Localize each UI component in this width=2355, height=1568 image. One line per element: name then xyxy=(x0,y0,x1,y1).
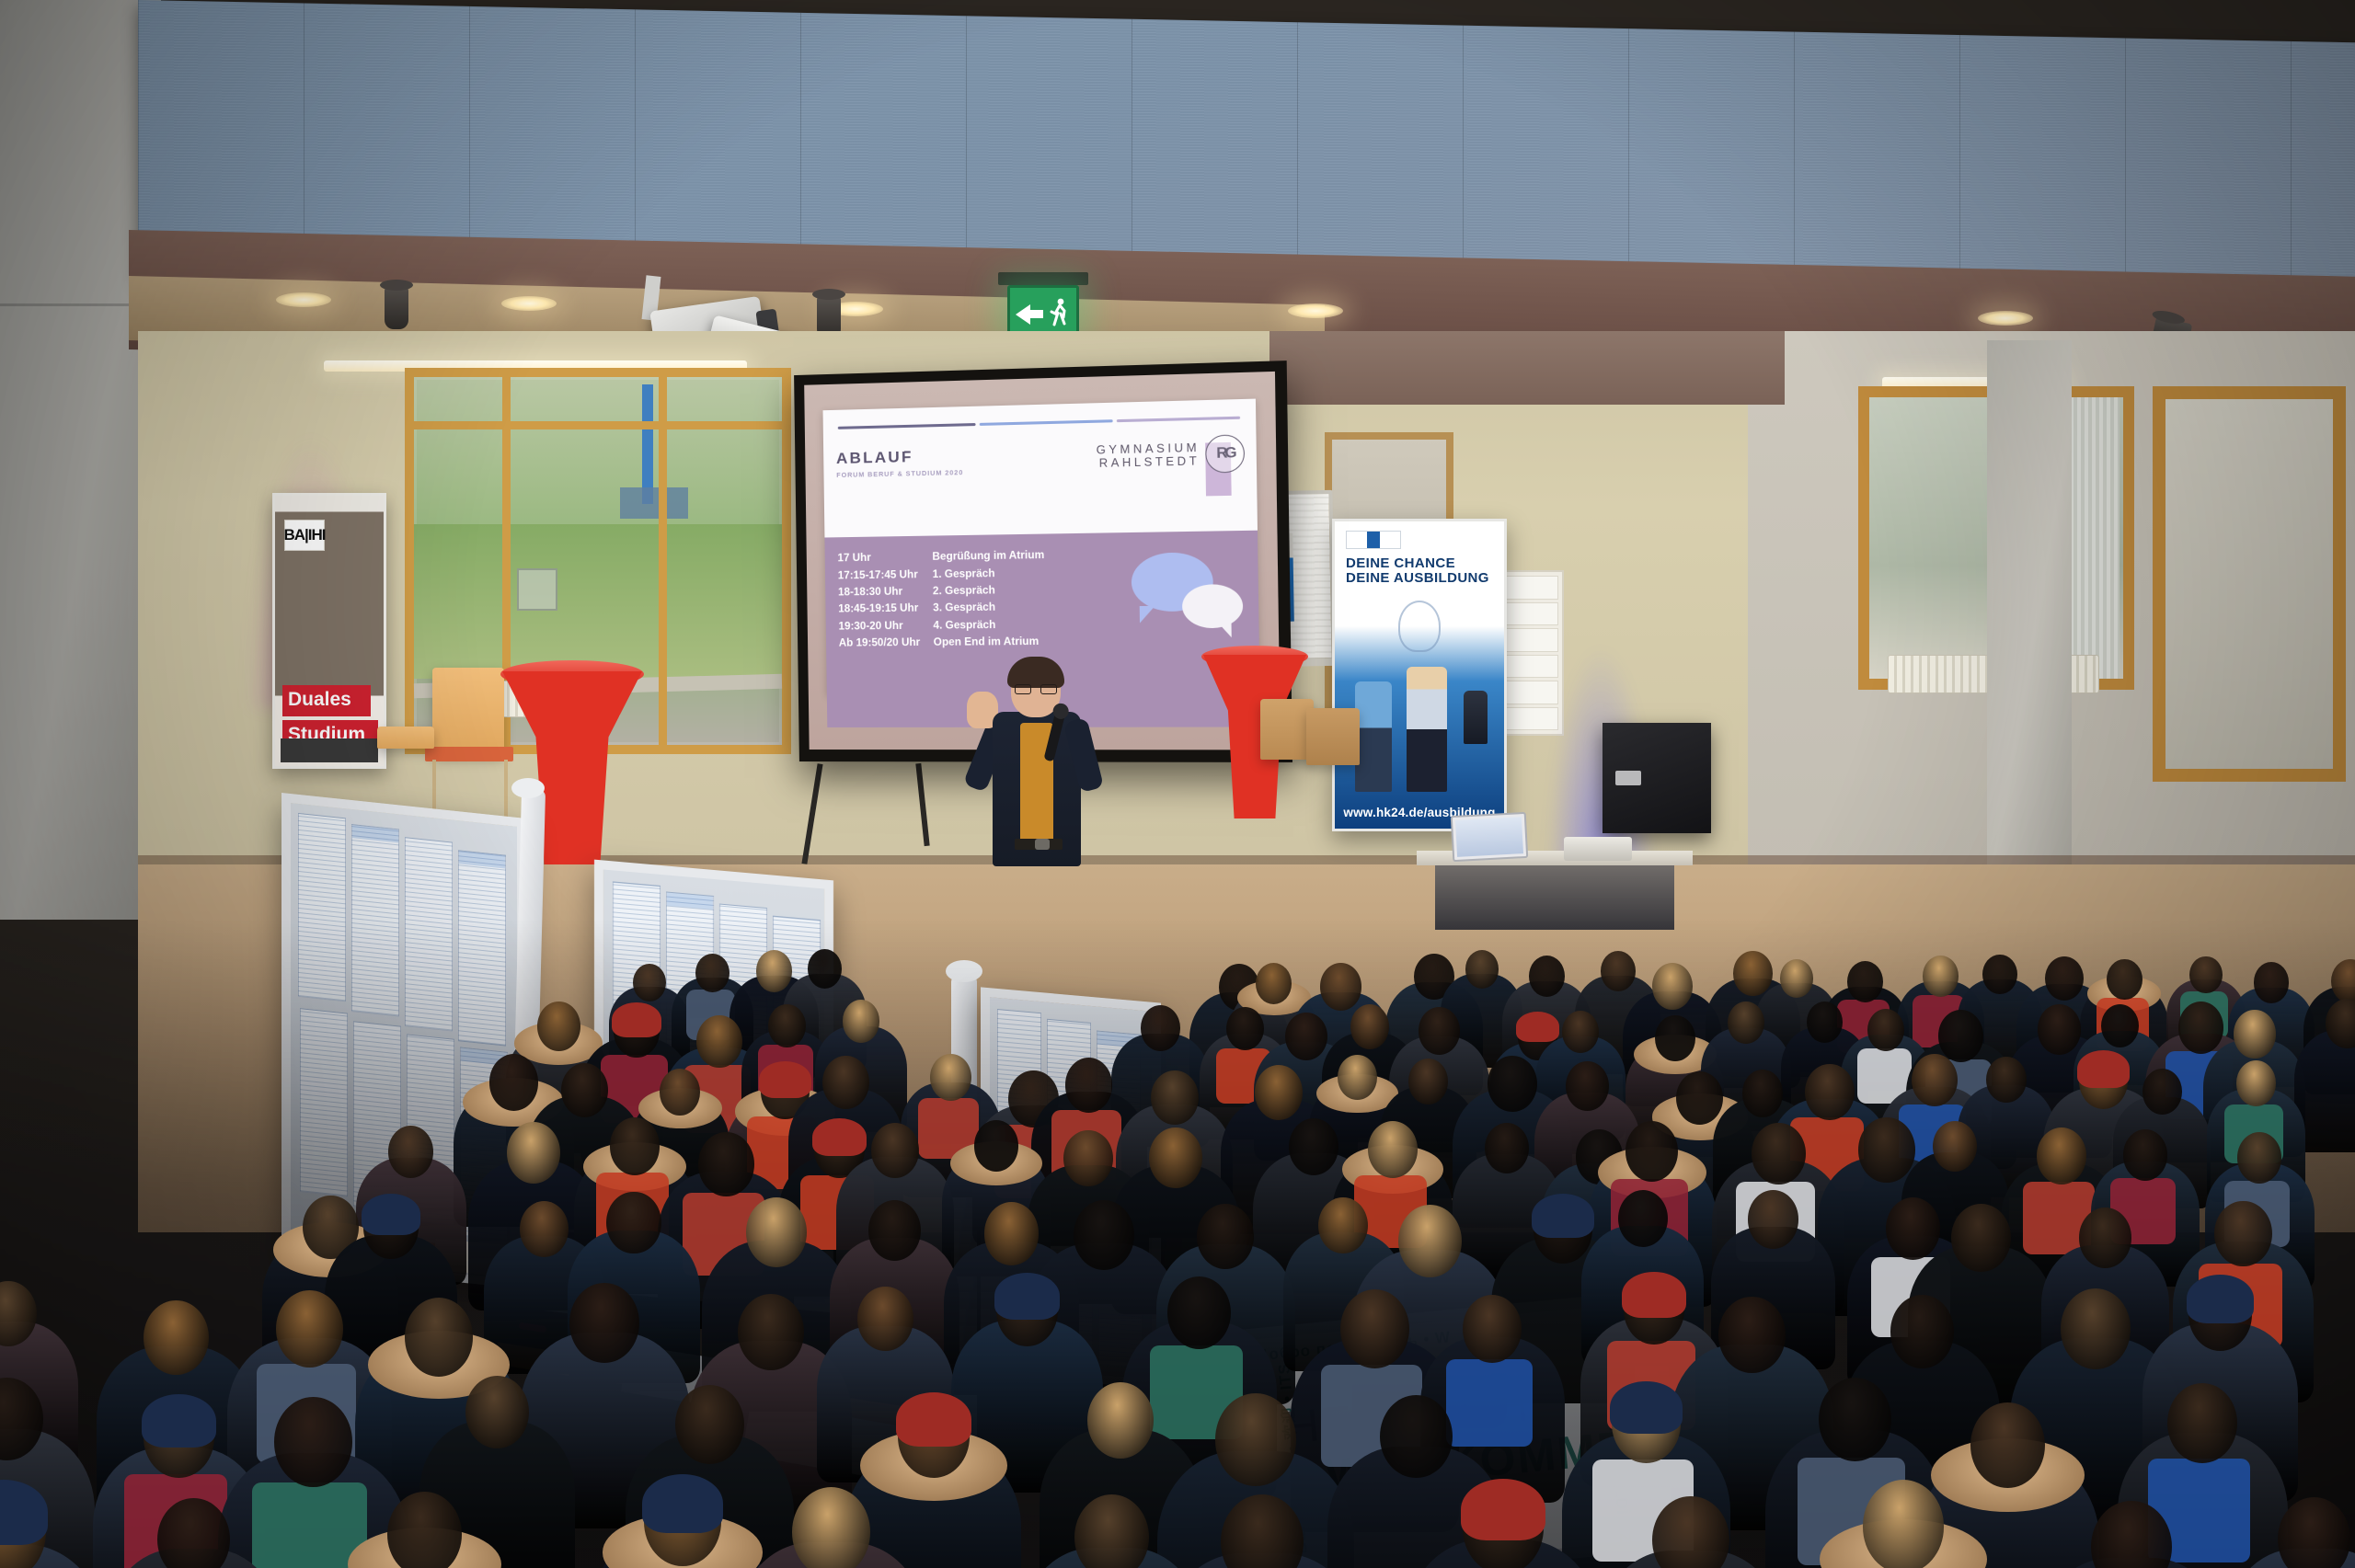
audience-head xyxy=(1255,1065,1303,1120)
audience-head xyxy=(1780,959,1813,998)
audience-head xyxy=(1986,1057,2027,1103)
banner-hk24-ausbildung: DEINE CHANCE DEINE AUSBILDUNG www.hk24.d… xyxy=(1332,519,1507,831)
slide-title-group: ABLAUF FORUM BERUF & STUDIUM 2020 xyxy=(836,446,963,478)
agenda-row: Ab 19:50/20 UhrOpen End im Atrium xyxy=(839,632,1259,652)
lightbulb-icon xyxy=(1398,601,1441,652)
audience-head xyxy=(1465,950,1499,989)
audience-head xyxy=(1933,1121,1977,1172)
agenda-item: 3. Gespräch xyxy=(933,600,995,617)
audience-head xyxy=(1566,1061,1609,1111)
audience-head xyxy=(1982,955,2017,994)
hk-headline-line2: DEINE AUSBILDUNG xyxy=(1346,571,1497,586)
audience-head xyxy=(1912,1054,1958,1106)
audience-head xyxy=(1805,1064,1855,1121)
audience-head xyxy=(2278,1497,2350,1568)
chair[interactable] xyxy=(432,668,504,756)
emergency-exit-icon xyxy=(1007,285,1079,337)
school-logo: GYMNASIUM RAHLSTEDT RG xyxy=(1097,440,1244,469)
audience-member xyxy=(1404,1482,1602,1568)
window-view-picnic-table xyxy=(620,487,688,519)
audience-head xyxy=(2167,1383,2237,1463)
beanie-hat xyxy=(896,1392,971,1447)
window-view-bin xyxy=(517,568,557,611)
audience-head xyxy=(1863,1480,1945,1568)
audience-head xyxy=(1951,1204,2011,1273)
audience-head xyxy=(1221,1494,1304,1568)
audience-head xyxy=(1408,1059,1448,1104)
audience-head xyxy=(738,1294,804,1370)
tech-table-legs xyxy=(1435,865,1674,930)
audience-member xyxy=(0,1482,108,1568)
audience-head xyxy=(974,1120,1018,1171)
audience-head xyxy=(1807,1001,1843,1043)
audience-head xyxy=(405,1298,474,1377)
audience-head xyxy=(2045,956,2084,1001)
agenda-item: 2. Gespräch xyxy=(933,582,995,600)
audience-head xyxy=(1419,1007,1460,1054)
audience-head xyxy=(2254,962,2290,1002)
beanie-hat xyxy=(1610,1381,1683,1434)
audience-head xyxy=(843,1000,880,1043)
audience-head xyxy=(1970,1402,2045,1488)
rule-segment-lilac xyxy=(1117,416,1240,422)
audience-head xyxy=(507,1122,560,1184)
audience-head xyxy=(1618,1190,1668,1247)
chair-seat[interactable] xyxy=(425,747,513,761)
beanie-hat xyxy=(2187,1275,2254,1322)
audience-head xyxy=(520,1201,569,1257)
audience-head xyxy=(1847,961,1883,1002)
audience-head xyxy=(1368,1121,1418,1178)
audience-head xyxy=(1488,1056,1536,1112)
window-view-pole xyxy=(642,384,653,504)
beanie-hat xyxy=(0,1480,48,1544)
rule-segment-blue xyxy=(979,419,1113,426)
audience-head xyxy=(1718,1297,1785,1373)
audience-head xyxy=(2037,1127,2086,1185)
audience-head xyxy=(610,1117,660,1174)
audience-head xyxy=(633,964,666,1001)
exit-sign-bracket xyxy=(998,272,1088,285)
agenda-item: Open End im Atrium xyxy=(934,634,1040,651)
control-box xyxy=(1564,837,1632,861)
audience-head xyxy=(276,1290,343,1368)
audience-head xyxy=(1652,963,1693,1010)
audience-head xyxy=(1320,963,1361,1010)
audience-head xyxy=(2107,959,2142,1001)
banner-duales-studium: BA|IHI Duales Studium xyxy=(272,493,386,769)
beanie-hat xyxy=(642,1474,723,1533)
audience-head xyxy=(1285,1013,1327,1061)
audience-head xyxy=(1074,1494,1149,1568)
agenda-time: 17 Uhr xyxy=(837,549,932,567)
audience-head xyxy=(696,1015,742,1068)
audience-head xyxy=(1380,1395,1453,1478)
beanie-hat xyxy=(362,1194,419,1235)
audience-head xyxy=(857,1287,913,1351)
presenter xyxy=(971,658,1099,898)
audience-head xyxy=(1752,1123,1806,1185)
audience-head xyxy=(871,1123,919,1178)
audience-head xyxy=(746,1197,807,1267)
audience-head xyxy=(1562,1011,1599,1053)
ba-ihi-logo: BA|IHI xyxy=(284,520,325,551)
ceiling-spotlight xyxy=(385,287,408,329)
audience-head xyxy=(1063,1130,1113,1187)
audience-head xyxy=(2234,1010,2275,1058)
downlight xyxy=(1978,311,2033,326)
audience-head xyxy=(1065,1058,1113,1112)
audience-head xyxy=(569,1283,639,1363)
rule-segment-purple xyxy=(838,423,976,429)
banner-person-right xyxy=(1464,691,1488,744)
audience-head xyxy=(2079,1207,2131,1267)
beanie-hat xyxy=(1461,1479,1545,1540)
agenda-time: 18:45-19:15 Uhr xyxy=(838,601,933,619)
agenda-time: 17:15-17:45 Uhr xyxy=(838,567,933,585)
audience-head xyxy=(1087,1382,1154,1459)
pinboard-post-cap xyxy=(946,960,982,982)
audience-head xyxy=(561,1063,608,1117)
duales-line1: Duales xyxy=(282,685,371,716)
slide-title: ABLAUF xyxy=(836,446,963,467)
audience-head xyxy=(930,1054,971,1101)
audience-head xyxy=(2189,956,2222,994)
beanie-hat xyxy=(612,1002,661,1037)
audience-head xyxy=(1398,1205,1462,1277)
agenda-item: 1. Gespräch xyxy=(933,566,995,583)
presenter-hair xyxy=(1007,657,1064,688)
audience-head xyxy=(2101,1004,2139,1047)
agenda-item: 4. Gespräch xyxy=(933,616,995,634)
audience-head xyxy=(1923,956,1959,997)
audience-member xyxy=(1803,1480,2003,1568)
pa-speaker xyxy=(1603,723,1711,833)
audience-head xyxy=(1463,1295,1522,1363)
window-view-lawn xyxy=(414,524,782,679)
chair[interactable] xyxy=(1306,708,1360,765)
audience-head xyxy=(465,1376,529,1448)
slide-rule-bar xyxy=(838,416,1241,429)
pinboard-post-cap xyxy=(511,778,545,798)
audience-head xyxy=(2214,1201,2271,1267)
banner-person-center xyxy=(1407,667,1447,792)
audience-head xyxy=(1074,1200,1134,1270)
downlight xyxy=(276,292,331,307)
audience-head xyxy=(2123,1129,2168,1181)
audience-head xyxy=(1529,956,1565,997)
audience-head xyxy=(868,1200,921,1261)
beanie-hat xyxy=(142,1394,216,1448)
audience-member xyxy=(1161,1494,1363,1568)
audience-head xyxy=(1256,963,1292,1004)
audience-head xyxy=(1890,1295,1955,1368)
audience-head xyxy=(537,1001,580,1051)
audience-head xyxy=(822,1056,869,1110)
audience-head xyxy=(1289,1118,1338,1175)
audience-member xyxy=(735,1487,927,1568)
audience-head xyxy=(1197,1204,1254,1269)
audience-head xyxy=(698,1132,754,1196)
audience-head xyxy=(2091,1501,2171,1568)
audience-member xyxy=(2033,1501,2230,1568)
beanie-hat xyxy=(994,1273,1060,1320)
hk-logo xyxy=(1346,531,1401,549)
agenda-time: 18-18:30 Uhr xyxy=(838,583,933,601)
slide-subtitle: FORUM BERUF & STUDIUM 2020 xyxy=(836,468,963,479)
laptop[interactable] xyxy=(1451,812,1529,862)
audience-head xyxy=(387,1492,462,1568)
left-concrete-wall xyxy=(0,0,161,920)
audience-head xyxy=(2142,1069,2182,1115)
audience-head xyxy=(388,1126,433,1177)
duales-footer xyxy=(281,738,378,762)
audience-head xyxy=(792,1487,870,1568)
agenda-time: Ab 19:50/20 Uhr xyxy=(839,635,934,652)
audience-head xyxy=(1340,1289,1409,1368)
audience-head xyxy=(1149,1127,1202,1188)
audience-head xyxy=(1655,1015,1695,1061)
audience-head xyxy=(695,954,729,992)
audience-head xyxy=(768,1004,806,1047)
audience-head xyxy=(808,949,842,989)
audience-head xyxy=(1652,1496,1729,1568)
audience-head xyxy=(1728,1001,1764,1044)
school-name-line2: RAHLSTEDT xyxy=(1097,454,1200,470)
audience-head xyxy=(1626,1121,1678,1182)
downlight xyxy=(501,296,557,311)
audience-member xyxy=(2225,1497,2355,1568)
wall-band xyxy=(1269,331,1785,405)
slide-header: ABLAUF FORUM BERUF & STUDIUM 2020 GYMNAS… xyxy=(836,440,1243,479)
chair[interactable] xyxy=(377,727,434,749)
audience-head xyxy=(606,1192,661,1254)
audience-member xyxy=(334,1492,517,1568)
audience-head xyxy=(2061,1288,2131,1368)
agenda-time: 19:30-20 Uhr xyxy=(838,617,933,635)
audience-head xyxy=(1215,1393,1295,1485)
photo-scene: BA|IHI Duales Studium DEINE CHANCE DEINE… xyxy=(0,0,2355,1568)
audience-member xyxy=(106,1498,282,1568)
downlight xyxy=(1288,303,1343,318)
exit-door-right xyxy=(2153,386,2346,782)
glasses-icon xyxy=(1015,684,1057,694)
banner-person-left xyxy=(1355,681,1392,792)
audience-head xyxy=(1819,1378,1891,1461)
audience-head xyxy=(1867,1009,1904,1051)
audience-head xyxy=(2236,1060,2277,1106)
presenter-belt-buckle xyxy=(1035,839,1050,850)
running-figure-icon xyxy=(1049,297,1069,330)
audience-head xyxy=(157,1498,229,1568)
hk-headline-line1: DEINE CHANCE xyxy=(1346,556,1497,571)
agenda-item: Begrüßung im Atrium xyxy=(932,547,1044,566)
audience-head xyxy=(1748,1190,1798,1248)
audience-head xyxy=(2237,1132,2282,1184)
school-monogram-icon: RG xyxy=(1205,434,1245,473)
hk-headline: DEINE CHANCE DEINE AUSBILDUNG xyxy=(1346,556,1497,586)
audience-head xyxy=(1151,1070,1199,1126)
audience-head xyxy=(660,1069,700,1116)
audience-member xyxy=(1597,1496,1784,1568)
audience-head xyxy=(274,1397,352,1486)
